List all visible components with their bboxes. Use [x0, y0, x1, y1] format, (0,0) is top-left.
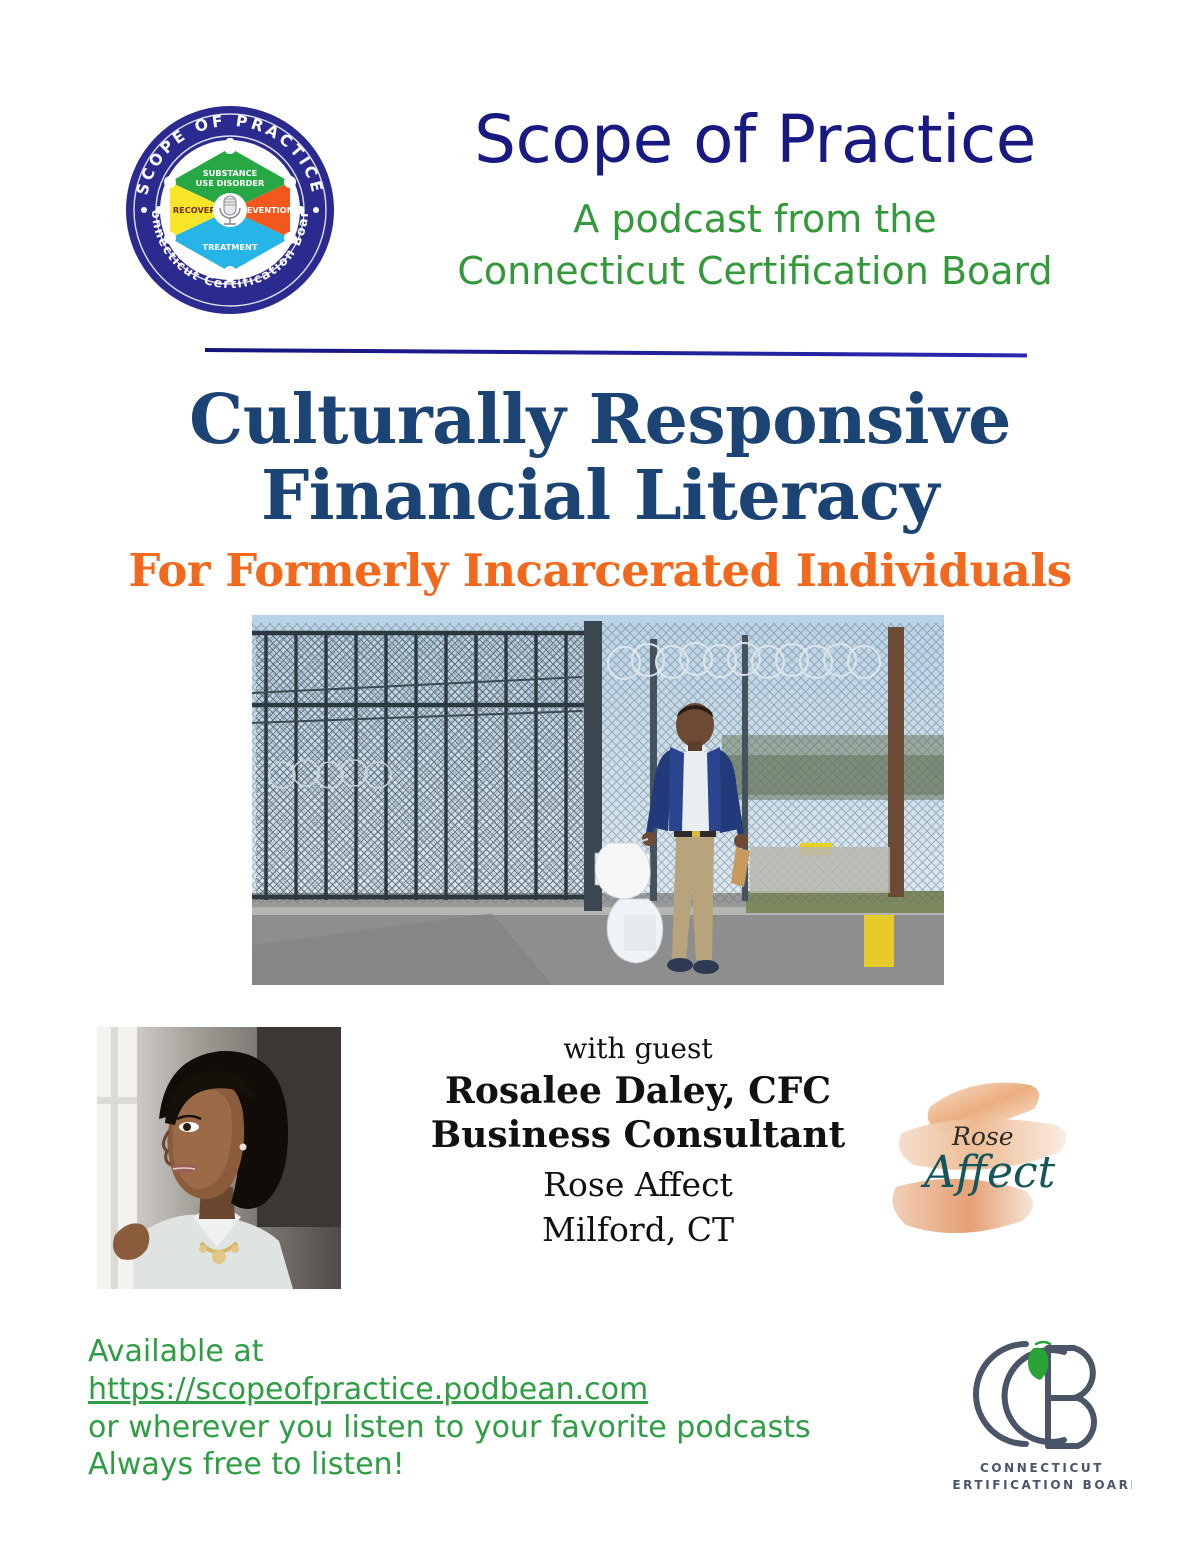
microphone-icon: [213, 193, 247, 227]
logo-label-substance-use-disorder-1: SUBSTANCE: [203, 168, 257, 178]
scope-of-practice-logo: SUBSTANCE USE DISORDER RECOVERY PREVENTI…: [124, 104, 336, 316]
flyer-page: SUBSTANCE USE DISORDER RECOVERY PREVENTI…: [0, 0, 1200, 1553]
header-divider: [205, 348, 1027, 357]
available-at-label: Available at: [88, 1333, 888, 1371]
page-title: Scope of Practice: [370, 105, 1140, 175]
logo-label-treatment: TREATMENT: [203, 242, 258, 252]
availability-text: Available at https://scopeofpractice.pod…: [88, 1333, 888, 1484]
guest-city: Milford, CT: [378, 1209, 898, 1252]
rose-affect-script-affect: Affect: [920, 1147, 1056, 1198]
guest-role: Business Consultant: [378, 1114, 898, 1158]
logo-label-substance-use-disorder-2: USE DISORDER: [196, 178, 265, 188]
guest-photo: [97, 1027, 341, 1289]
header-title-block: Scope of Practice A podcast from the Con…: [370, 105, 1140, 298]
page-subtitle: A podcast from the Connecticut Certifica…: [370, 193, 1140, 298]
page-subtitle-line1: A podcast from the: [573, 197, 936, 241]
headline-subline: For Formerly Incarcerated Individuals: [60, 546, 1140, 596]
guest-with-label: with guest: [378, 1032, 898, 1066]
or-wherever-line: or wherever you listen to your favorite …: [88, 1409, 888, 1447]
main-photo: ZONE 3 ZONE 4: [252, 615, 944, 985]
ccb-logo: CONNECTICUT CERTIFICATION BOARD: [952, 1330, 1132, 1500]
headline-line1: Culturally Responsive: [60, 382, 1140, 458]
guest-name: Rosalee Daley, CFC: [378, 1070, 898, 1114]
ccb-name-line2: CERTIFICATION BOARD: [952, 1478, 1132, 1492]
headline-block: Culturally Responsive Financial Literacy…: [60, 382, 1140, 596]
podcast-url-link[interactable]: https://scopeofpractice.podbean.com: [88, 1371, 648, 1409]
headline-line2: Financial Literacy: [60, 458, 1140, 534]
page-subtitle-line2: Connecticut Certification Board: [457, 249, 1052, 293]
guest-company: Rose Affect: [378, 1164, 898, 1207]
ccb-name-line1: CONNECTICUT: [980, 1461, 1104, 1475]
rose-affect-logo: Rose Affect: [880, 1065, 1100, 1265]
always-free-line: Always free to listen!: [88, 1446, 888, 1484]
guest-info: with guest Rosalee Daley, CFC Business C…: [378, 1032, 898, 1252]
